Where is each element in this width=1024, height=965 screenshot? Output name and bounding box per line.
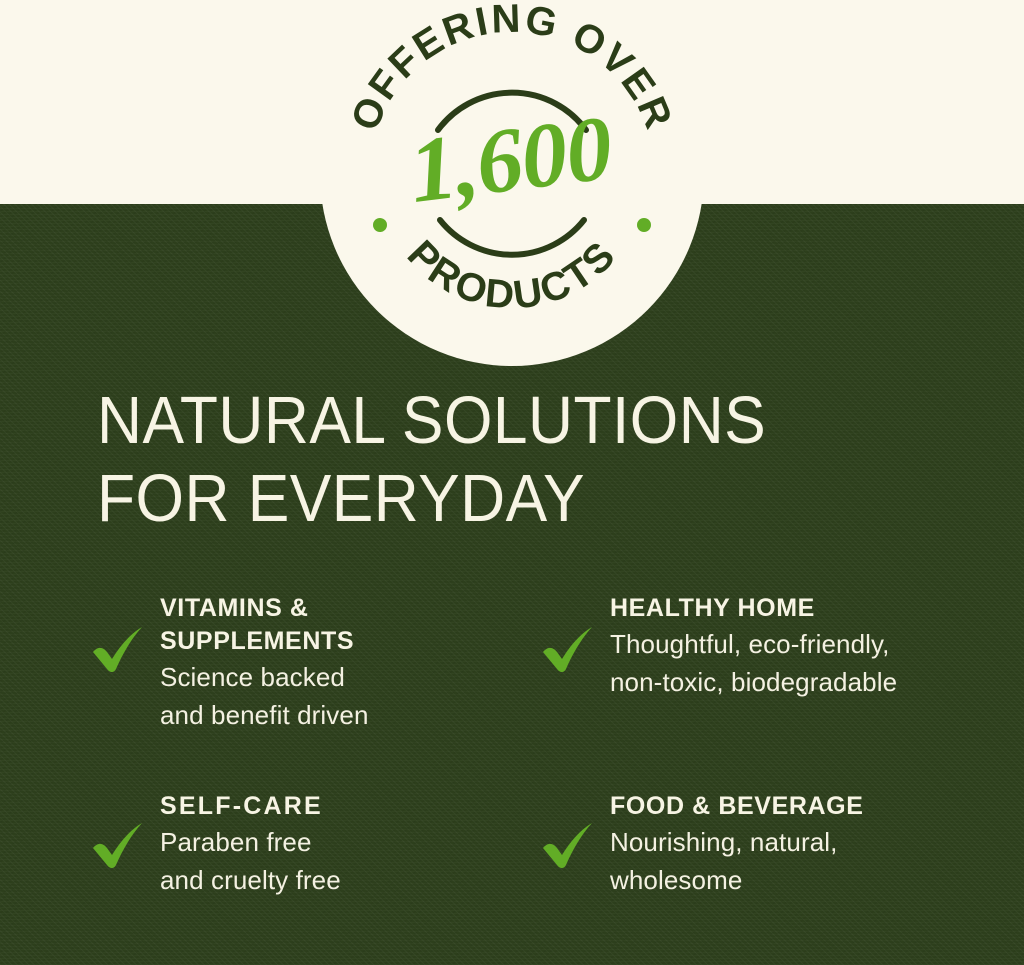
check-icon	[90, 624, 146, 674]
features-grid: VITAMINS & SUPPLEMENTS Science backed an…	[0, 592, 1024, 940]
feature-title: FOOD & BEVERAGE	[610, 790, 988, 823]
feature-food-beverage: FOOD & BEVERAGE Nourishing, natural, who…	[528, 790, 988, 940]
badge-arc-bottom-text: PRODUCTS	[399, 232, 625, 318]
feature-title: SELF-CARE	[160, 790, 528, 823]
feature-self-care: SELF-CARE Paraben free and cruelty free	[78, 790, 528, 940]
page-title: NATURAL SOLUTIONS FOR EVERYDAY	[97, 382, 766, 538]
badge-dot-left	[373, 218, 387, 232]
feature-healthy-home: HEALTHY HOME Thoughtful, eco-friendly, n…	[528, 592, 988, 742]
feature-title: VITAMINS & SUPPLEMENTS	[160, 592, 528, 658]
check-icon	[540, 624, 596, 674]
feature-description: Thoughtful, eco-friendly, non-toxic, bio…	[610, 625, 988, 701]
feature-description: Nourishing, natural, wholesome	[610, 823, 988, 899]
feature-vitamins-supplements: VITAMINS & SUPPLEMENTS Science backed an…	[78, 592, 528, 742]
feature-description: Science backed and benefit driven	[160, 658, 528, 734]
badge-number: 1,600	[404, 96, 617, 222]
check-icon	[540, 820, 596, 870]
feature-description: Paraben free and cruelty free	[160, 823, 528, 899]
check-icon	[90, 820, 146, 870]
badge-arc-bottom-decoration	[440, 220, 584, 255]
feature-title: HEALTHY HOME	[610, 592, 988, 625]
badge-dot-right	[637, 218, 651, 232]
products-badge: OFFERING OVER PRODUCTS 1,600	[320, 0, 704, 366]
